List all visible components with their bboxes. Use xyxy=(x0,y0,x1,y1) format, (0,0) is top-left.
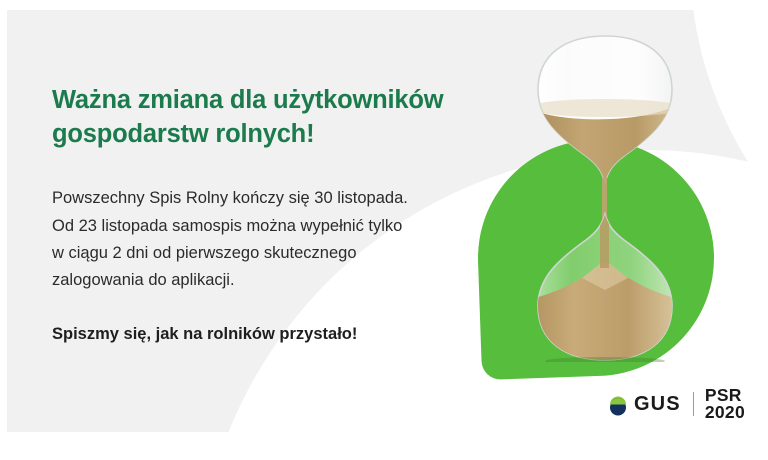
promo-banner: Ważna zmiana dla użytkowników gospodarst… xyxy=(0,0,768,460)
body-line: w ciągu 2 dni od pierwszego skutecznego xyxy=(52,240,522,267)
logo-campaign-text: PSR 2020 xyxy=(705,387,768,422)
logo-lockup: GUS PSR 2020 xyxy=(607,390,768,418)
headline-line-2: gospodarstw rolnych! xyxy=(52,120,314,148)
logo-divider xyxy=(693,392,694,416)
banner-content: Ważna zmiana dla użytkowników gospodarst… xyxy=(52,84,522,344)
logo-brand-text: GUS xyxy=(634,394,681,414)
body-line: Powszechny Spis Rolny kończy się 30 list… xyxy=(52,185,522,212)
headline-line-1: Ważna zmiana dla użytkowników xyxy=(52,86,443,114)
tagline: Spiszmy się, jak na rolników przystało! xyxy=(52,294,522,344)
page-title: Ważna zmiana dla użytkowników gospodarst… xyxy=(52,84,522,151)
hourglass-illustration xyxy=(520,32,690,362)
gus-logo-mark-icon xyxy=(607,393,629,416)
body-text: Powszechny Spis Rolny kończy się 30 list… xyxy=(52,151,522,294)
body-line: Od 23 listopada samospis można wypełnić … xyxy=(52,213,522,240)
body-line: zalogowania do aplikacji. xyxy=(52,267,522,294)
